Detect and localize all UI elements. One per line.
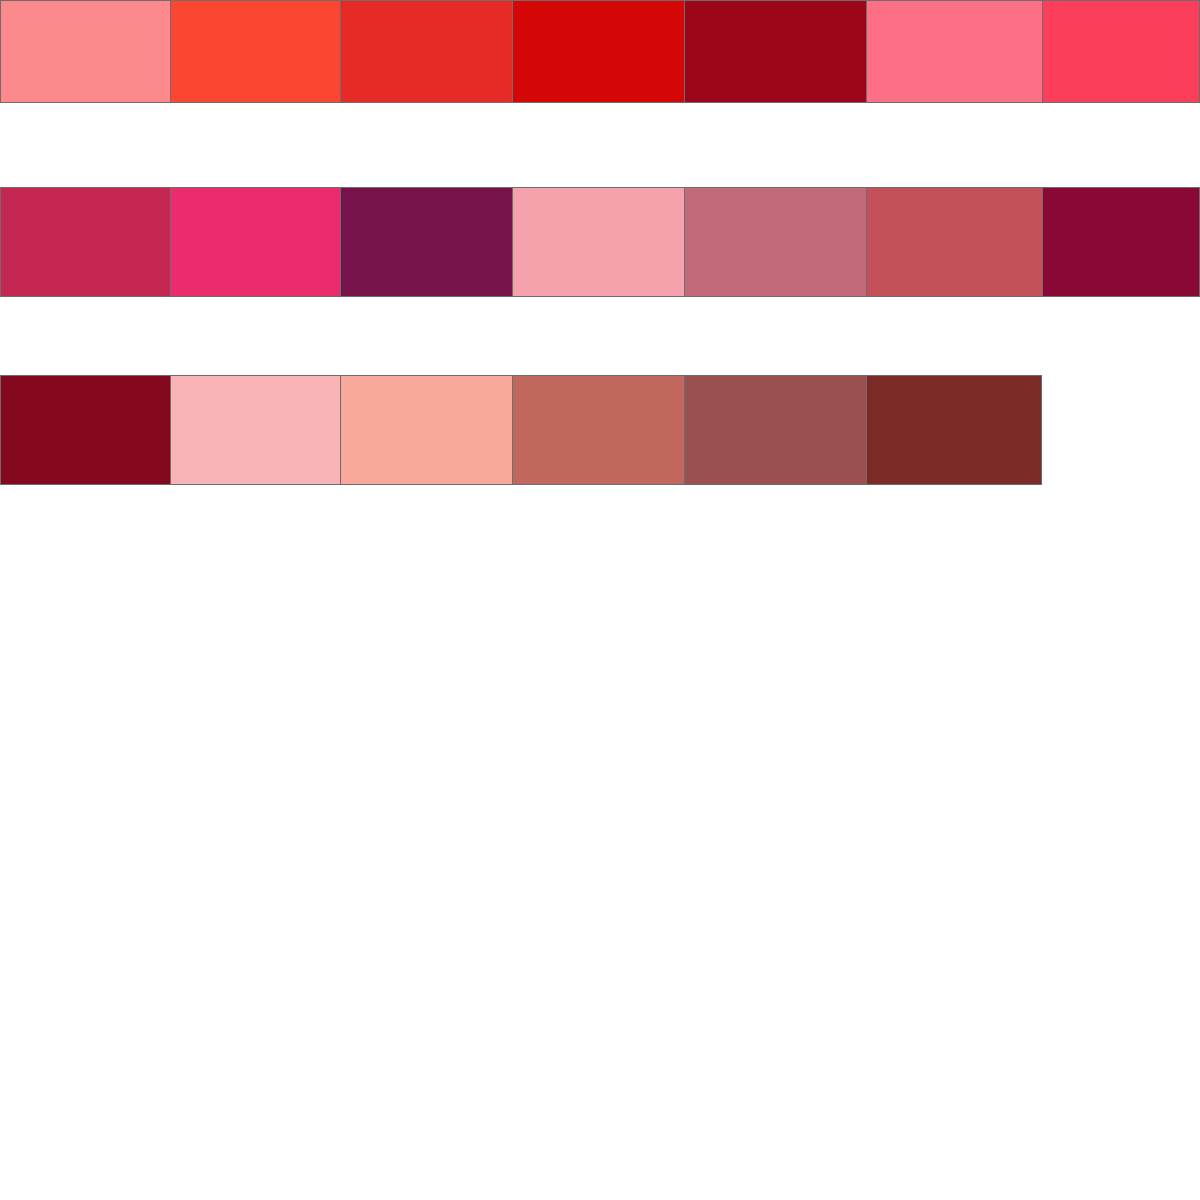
swatch-decadent[interactable] bbox=[866, 375, 1042, 485]
palette-row-2: Tum- ultuous Pink Dominant Insolent Plum… bbox=[0, 187, 1200, 375]
swatch-rebellious-rose[interactable] bbox=[866, 187, 1042, 297]
palette-row-3: Emo- tional Desirable Insatiable Ivory I… bbox=[0, 375, 1200, 569]
swatch-band-row-3 bbox=[0, 375, 1200, 485]
swatch-potent[interactable] bbox=[0, 0, 170, 103]
chart-bottom-whitespace bbox=[0, 569, 1200, 867]
swatch-insolent-plum[interactable] bbox=[340, 187, 512, 297]
swatch-empty-slot bbox=[1042, 375, 1200, 485]
swatch-irresistible[interactable] bbox=[684, 375, 866, 485]
swatch-band-row-1 bbox=[0, 0, 1200, 103]
swatch-desirable[interactable] bbox=[170, 375, 340, 485]
swatch-impassioned[interactable] bbox=[340, 0, 512, 103]
swatch-insatiable-ivory[interactable] bbox=[340, 375, 512, 485]
swatch-band-row-2 bbox=[0, 187, 1200, 297]
swatch-vengeful-red[interactable] bbox=[684, 0, 866, 103]
swatch-dominant[interactable] bbox=[170, 187, 340, 297]
swatch-dynamic[interactable] bbox=[684, 187, 866, 297]
swatch-envious[interactable] bbox=[512, 0, 684, 103]
swatch-tumultuous-pink[interactable] bbox=[0, 187, 170, 297]
swatch-powerful[interactable] bbox=[866, 0, 1042, 103]
swatch-emotional[interactable] bbox=[0, 375, 170, 485]
swatch-intense-nude[interactable] bbox=[512, 375, 684, 485]
colour-palette-chart: Potent Coral Impas- sioned Envious Venge… bbox=[0, 0, 1200, 1200]
swatch-infamous[interactable] bbox=[1042, 0, 1200, 103]
swatch-red-ego[interactable] bbox=[1042, 187, 1200, 297]
palette-row-1: Potent Coral Impas- sioned Envious Venge… bbox=[0, 0, 1200, 187]
swatch-impulsive[interactable] bbox=[512, 187, 684, 297]
swatch-coral[interactable] bbox=[170, 0, 340, 103]
